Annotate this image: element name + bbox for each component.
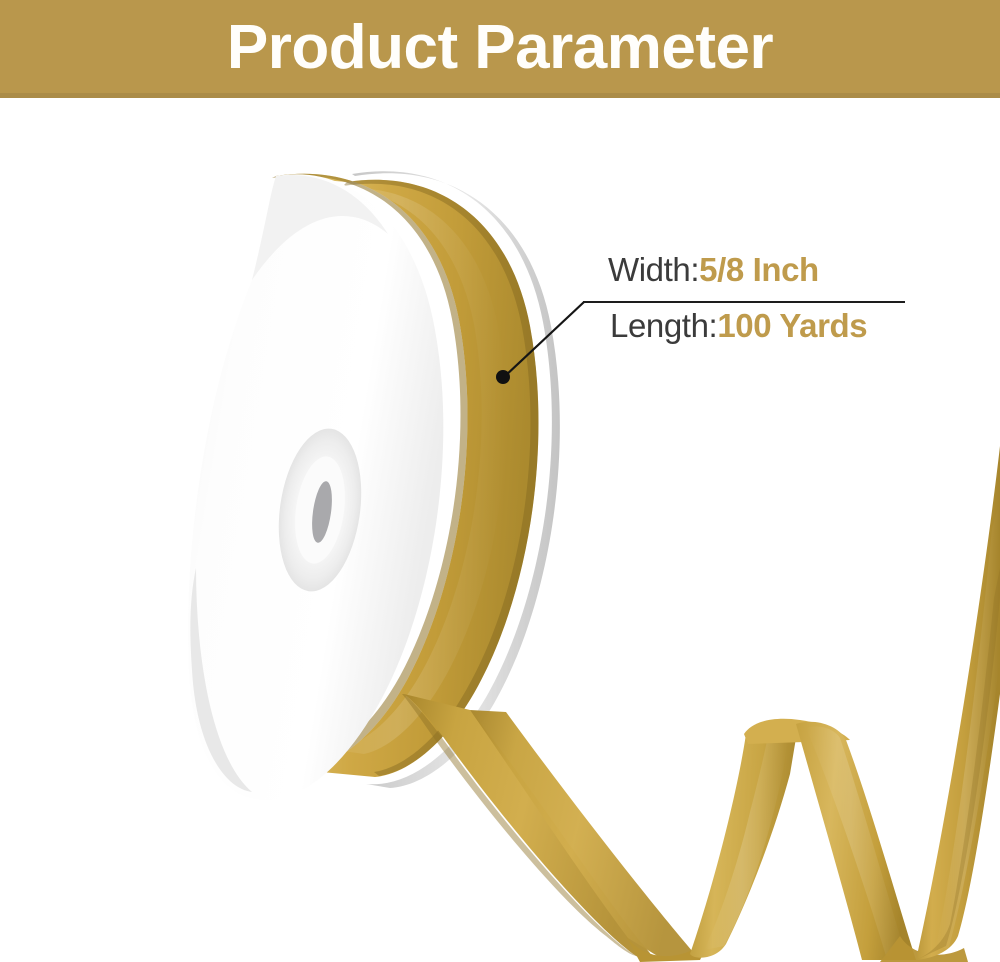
callout-row-length: Length:100 Yards [610,309,867,342]
callout-divider [583,301,905,303]
ribbon-tail-lower-strip [470,710,700,960]
callout-row-width: Width:5/8 Inch [608,253,819,286]
leader-line [504,302,584,377]
ribbon-spool-illustration [0,98,1000,962]
header-banner: Product Parameter [0,0,1000,93]
spool-group [188,171,560,800]
callout-label-width: Width: [608,251,699,288]
callout-value-width: 5/8 Inch [699,251,819,288]
product-parameter-image: Product Parameter [0,0,1000,962]
page-title: Product Parameter [0,5,1000,93]
callout-label-length: Length: [610,307,717,344]
leader-dot [496,370,510,384]
callout-value-length: 100 Yards [717,307,867,344]
product-photo [0,98,1000,962]
